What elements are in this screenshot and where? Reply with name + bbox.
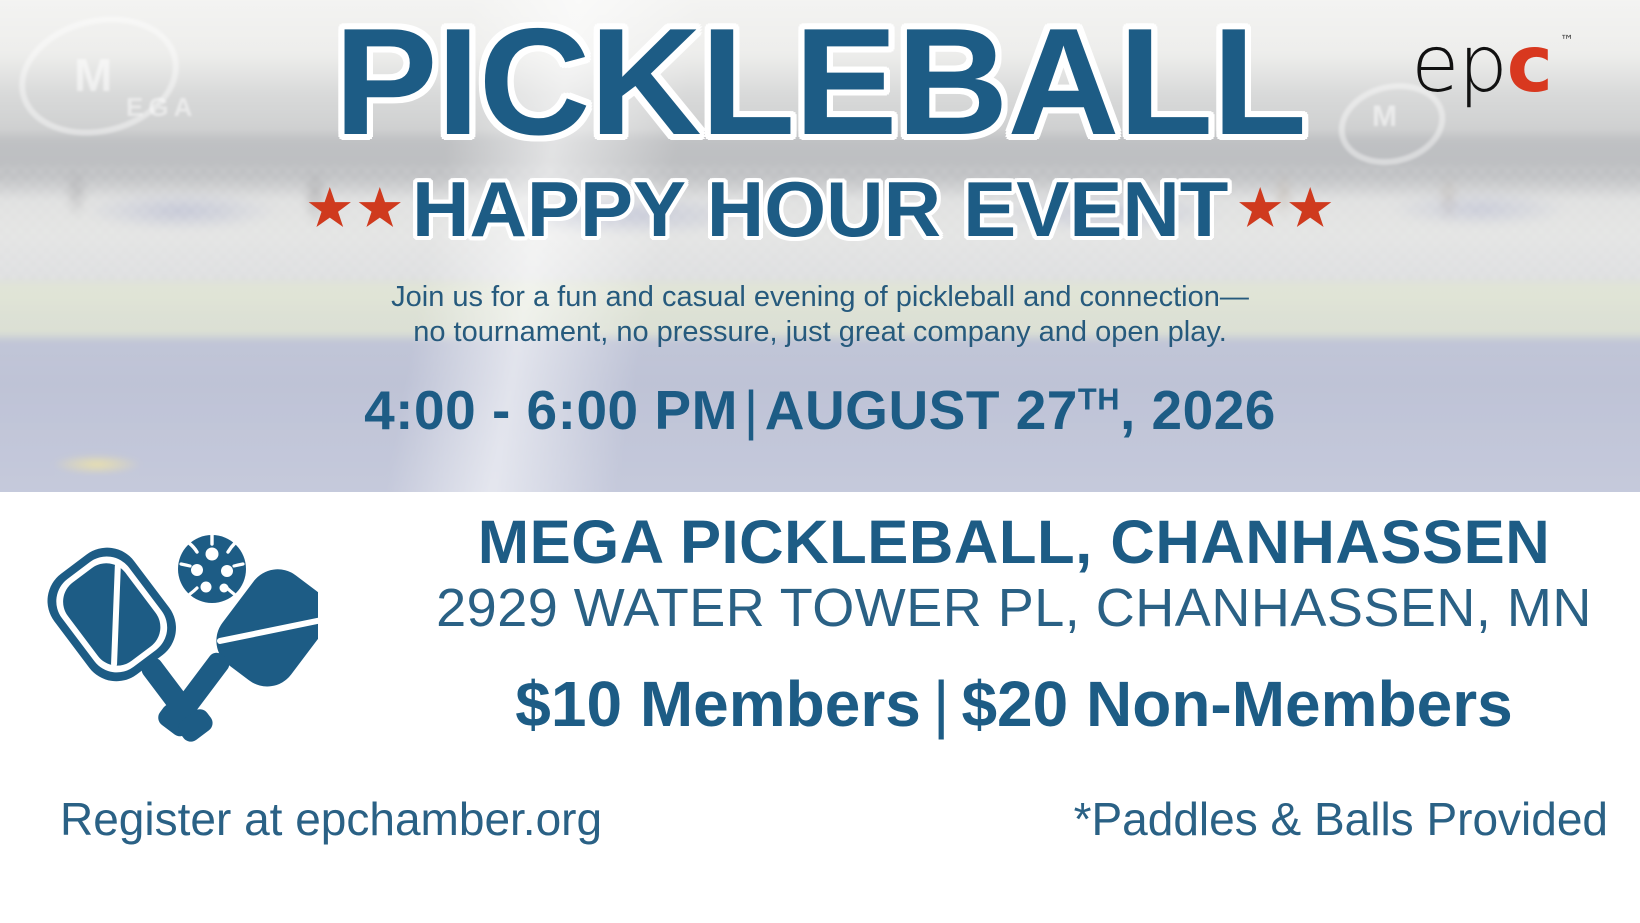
venue-block: MEGA PICKLEBALL, CHANHASSEN 2929 WATER T… bbox=[420, 510, 1608, 738]
stars-left bbox=[308, 187, 402, 231]
star-icon bbox=[1288, 187, 1332, 231]
star-icon bbox=[358, 187, 402, 231]
price-separator: | bbox=[933, 668, 950, 740]
star-icon bbox=[1238, 187, 1282, 231]
details-panel: MEGA PICKLEBALL, CHANHASSEN 2929 WATER T… bbox=[0, 492, 1640, 923]
crossed-pickleball-paddles-icon bbox=[38, 502, 318, 782]
pickleball-happy-hour-flyer: M EGA M epc™ PICKLEBALL HAPPY HOUR EVENT bbox=[0, 0, 1640, 923]
star-icon bbox=[308, 187, 352, 231]
price-members: $10 Members bbox=[515, 668, 921, 740]
hero-banner: M EGA M epc™ PICKLEBALL HAPPY HOUR EVENT bbox=[0, 0, 1640, 492]
event-date-ordinal: TH bbox=[1078, 382, 1120, 417]
datetime-separator: | bbox=[744, 379, 759, 441]
subtitle-row: HAPPY HOUR EVENT bbox=[0, 170, 1640, 248]
event-time: 4:00 - 6:00 PM bbox=[364, 379, 738, 441]
event-date-year: , 2026 bbox=[1120, 379, 1276, 441]
event-description: Join us for a fun and casual evening of … bbox=[0, 280, 1640, 350]
page-subtitle: HAPPY HOUR EVENT bbox=[412, 170, 1228, 248]
footer-row: Register at epchamber.org *Paddles & Bal… bbox=[0, 792, 1640, 882]
event-description-line-1: Join us for a fun and casual evening of … bbox=[0, 280, 1640, 315]
event-date-monthday: AUGUST 27 bbox=[765, 379, 1078, 441]
page-title: PICKLEBALL bbox=[0, 6, 1640, 158]
stars-right bbox=[1238, 187, 1332, 231]
event-description-line-2: no tournament, no pressure, just great c… bbox=[0, 315, 1640, 350]
event-datetime: 4:00 - 6:00 PM|AUGUST 27TH, 2026 bbox=[0, 378, 1640, 442]
price-non-members: $20 Non-Members bbox=[961, 668, 1512, 740]
hero-content: epc™ PICKLEBALL HAPPY HOUR EVENT Join us… bbox=[0, 0, 1640, 492]
venue-name: MEGA PICKLEBALL, CHANHASSEN bbox=[414, 510, 1614, 574]
register-cta[interactable]: Register at epchamber.org bbox=[60, 792, 602, 846]
venue-address: 2929 WATER TOWER PL, CHANHASSEN, MN bbox=[420, 580, 1608, 637]
equipment-note: *Paddles & Balls Provided bbox=[1074, 792, 1608, 846]
pricing-line: $10 Members|$20 Non-Members bbox=[420, 671, 1608, 738]
